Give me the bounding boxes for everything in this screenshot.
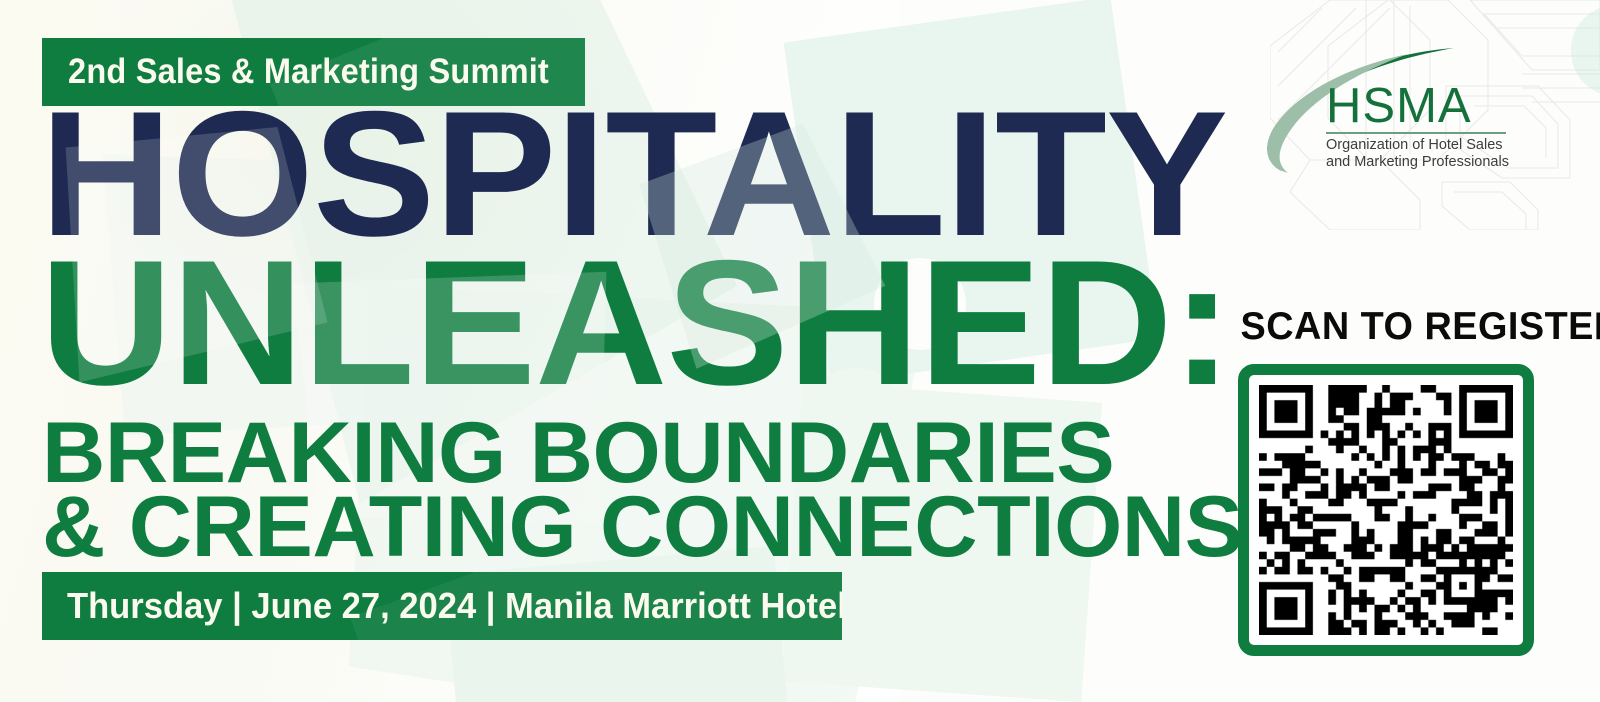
puzzle-knob-shape: [1565, 0, 1600, 103]
hsma-logo-text: HSMA Organization of Hotel Sales and Mar…: [1326, 82, 1509, 170]
hsma-logo: HSMA Organization of Hotel Sales and Mar…: [1258, 42, 1538, 177]
headline-block: HOSPITALITY UNLEASHED:: [40, 100, 860, 398]
subheadline-line-creating-connections: & CREATING CONNECTIONS: [42, 490, 919, 564]
qr-code-icon[interactable]: [1259, 385, 1513, 635]
headline-line-unleashed: UNLEASHED:: [40, 248, 885, 398]
event-banner: 2nd Sales & Marketing Summit HOSPITALITY…: [0, 0, 1600, 702]
hsma-tagline-line1: Organization of Hotel Sales: [1326, 137, 1509, 154]
qr-code-frame[interactable]: [1238, 364, 1534, 656]
hsma-tagline: Organization of Hotel Sales and Marketin…: [1326, 137, 1509, 170]
subheadline-block: BREAKING BOUNDARIES & CREATING CONNECTIO…: [42, 416, 902, 564]
hsma-tagline-line2: and Marketing Professionals: [1326, 154, 1509, 171]
hsma-wordmark: HSMA: [1326, 82, 1509, 130]
event-details-text: Thursday | June 27, 2024 | Manila Marrio…: [42, 572, 810, 640]
event-details-bar: Thursday | June 27, 2024 | Manila Marrio…: [42, 572, 842, 640]
scan-to-register-label: SCAN TO REGISTER: [1241, 305, 1532, 349]
